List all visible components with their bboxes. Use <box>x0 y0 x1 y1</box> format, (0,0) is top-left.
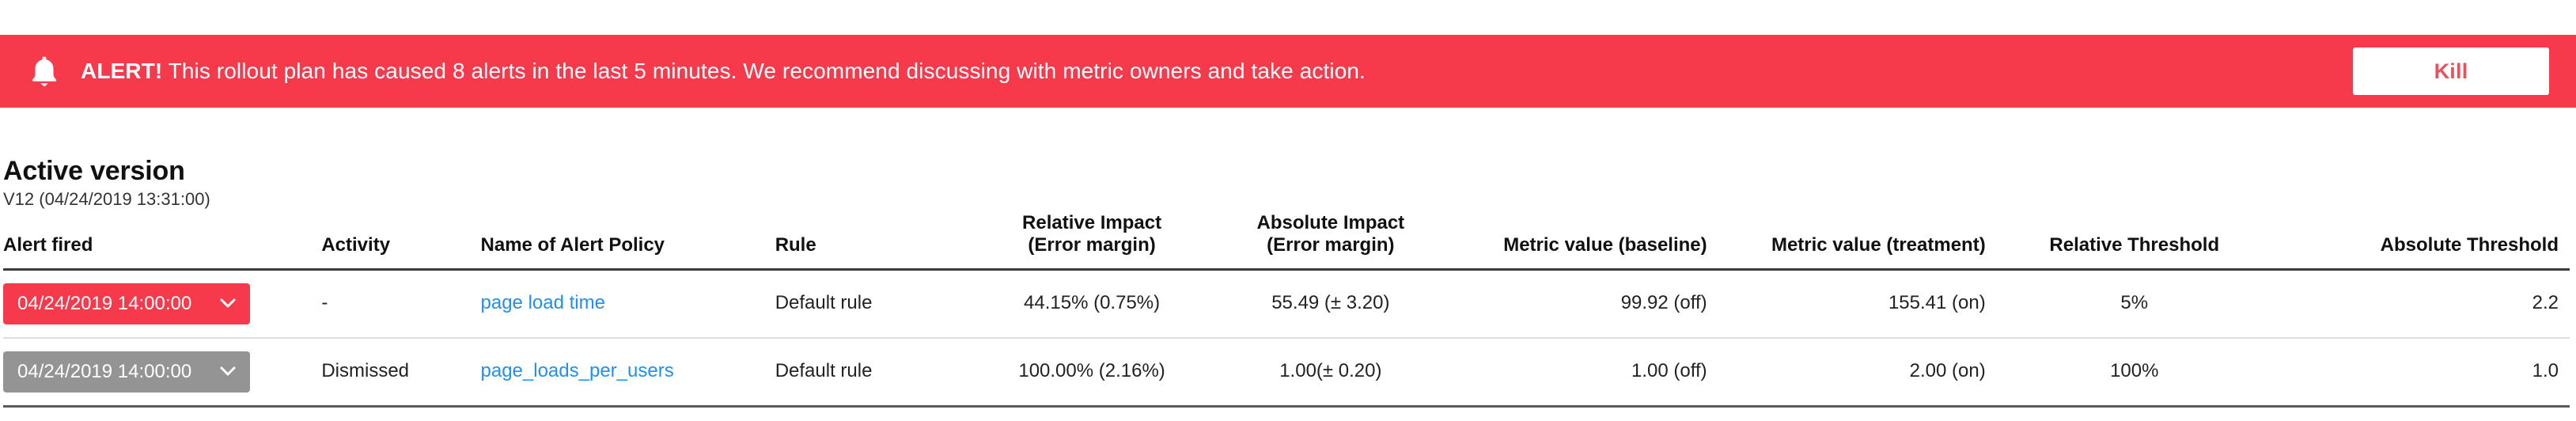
alert-fired-value: 04/24/2019 14:00:00 <box>17 293 191 315</box>
alert-banner: ALERT! This rollout plan has caused 8 al… <box>0 35 2576 108</box>
cell-absolute-impact: 55.49 (± 3.20) <box>1217 269 1456 338</box>
column-header-policy: Name of Alert Policy <box>481 212 775 269</box>
cell-metric-treatment: 2.00 (on) <box>1718 338 1997 407</box>
alert-fired-dropdown[interactable]: 04/24/2019 14:00:00 <box>3 351 250 393</box>
cell-relative-threshold: 5% <box>1997 269 2283 338</box>
alert-message: ALERT! This rollout plan has caused 8 al… <box>81 58 2353 85</box>
cell-activity: - <box>321 269 480 338</box>
column-header-relative-threshold: Relative Threshold <box>1997 212 2283 269</box>
cell-relative-threshold: 100% <box>1997 338 2283 407</box>
version-subtitle: V12 (04/24/2019 13:31:00) <box>3 190 210 209</box>
column-header-metric-baseline: Metric value (baseline) <box>1456 212 1718 269</box>
page-title: Active version <box>3 157 210 186</box>
cell-metric-treatment: 155.41 (on) <box>1718 269 1997 338</box>
cell-activity: Dismissed <box>321 338 480 407</box>
cell-rule: Default rule <box>775 338 979 407</box>
cell-relative-impact: 44.15% (0.75%) <box>978 269 1217 338</box>
column-header-alert-fired: Alert fired <box>3 212 321 269</box>
cell-metric-baseline: 99.92 (off) <box>1456 269 1718 338</box>
alert-message-text: This rollout plan has caused 8 alerts in… <box>162 59 1366 83</box>
column-header-absolute-threshold: Absolute Threshold <box>2283 212 2570 269</box>
alert-fired-dropdown[interactable]: 04/24/2019 14:00:00 <box>3 283 250 324</box>
cell-relative-impact: 100.00% (2.16%) <box>978 338 1217 407</box>
table-row: 04/24/2019 14:00:00 - page load time Def… <box>3 269 2570 338</box>
cell-alert-fired: 04/24/2019 14:00:00 <box>3 269 321 338</box>
chevron-down-icon <box>220 298 236 309</box>
alert-strong-label: ALERT! <box>81 59 162 83</box>
column-header-metric-treatment: Metric value (treatment) <box>1718 212 1997 269</box>
table-row: 04/24/2019 14:00:00 Dismissed page_loads… <box>3 338 2570 407</box>
policy-link[interactable]: page_loads_per_users <box>481 360 674 381</box>
bell-icon <box>28 53 60 89</box>
cell-absolute-impact: 1.00(± 0.20) <box>1217 338 1456 407</box>
chevron-down-icon <box>220 366 236 377</box>
column-header-activity: Activity <box>321 212 480 269</box>
cell-alert-fired: 04/24/2019 14:00:00 <box>3 338 321 407</box>
cell-policy: page_loads_per_users <box>481 338 775 407</box>
cell-absolute-threshold: 1.0 <box>2283 338 2570 407</box>
column-header-rule: Rule <box>775 212 979 269</box>
kill-button[interactable]: Kill <box>2353 47 2549 95</box>
cell-rule: Default rule <box>775 269 979 338</box>
column-header-absolute-impact: Absolute Impact (Error margin) <box>1217 212 1456 269</box>
cell-policy: page load time <box>481 269 775 338</box>
cell-absolute-threshold: 2.2 <box>2283 269 2570 338</box>
cell-metric-baseline: 1.00 (off) <box>1456 338 1718 407</box>
policy-link[interactable]: page load time <box>481 292 605 313</box>
active-version-header: Active version V12 (04/24/2019 13:31:00) <box>3 157 210 210</box>
table-body: 04/24/2019 14:00:00 - page load time Def… <box>3 269 2570 406</box>
column-header-relative-impact: Relative Impact (Error margin) <box>978 212 1217 269</box>
alerts-table: Alert fired Activity Name of Alert Polic… <box>3 212 2570 408</box>
table-header-row: Alert fired Activity Name of Alert Polic… <box>3 212 2570 269</box>
alert-fired-value: 04/24/2019 14:00:00 <box>17 361 191 383</box>
